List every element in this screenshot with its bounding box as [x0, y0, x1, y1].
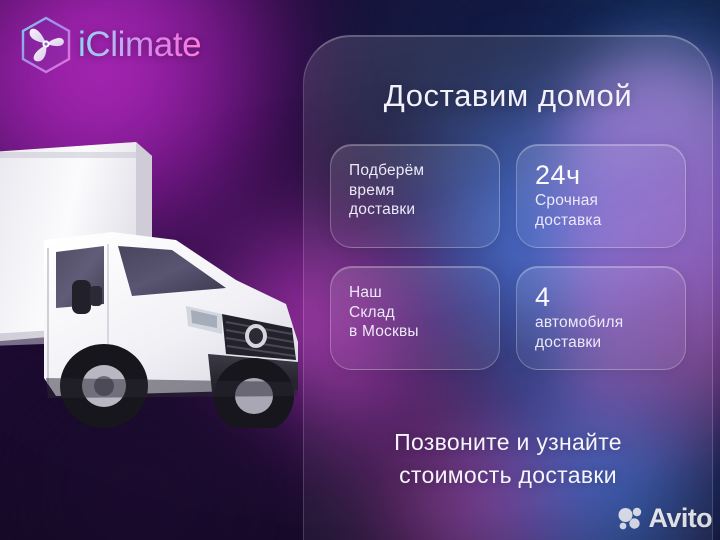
- truck-photo: [0, 128, 316, 428]
- feature-card-moscow-warehouse[interactable]: Наш Склад в Москвы: [330, 266, 500, 370]
- glass-panel: Доставим домой Подберём время доставки 2…: [303, 35, 713, 540]
- feature-line: автомобиля: [535, 313, 671, 333]
- avito-watermark: Avito: [618, 503, 713, 534]
- feature-line: Склад: [349, 303, 485, 323]
- feature-card-grid: Подберём время доставки 24ч Срочная дост…: [330, 144, 686, 370]
- call-to-action[interactable]: Позвоните и узнайте стоимость доставки: [304, 426, 712, 491]
- brand-logo[interactable]: iClimate: [16, 14, 201, 76]
- cta-line-1: Позвоните и узнайте: [304, 426, 712, 459]
- feature-line: Наш: [349, 283, 485, 303]
- hexagon-fan-icon: [16, 14, 76, 76]
- feature-line: доставки: [535, 333, 671, 353]
- feature-card-pickup-time[interactable]: Подберём время доставки: [330, 144, 500, 248]
- feature-line: доставка: [535, 211, 671, 231]
- feature-highlight-value: 4: [535, 283, 671, 311]
- feature-line: доставки: [349, 200, 485, 220]
- avito-dots-icon: [618, 507, 644, 531]
- avito-label: Avito: [649, 503, 713, 534]
- feature-card-four-vehicles[interactable]: 4 автомобиля доставки: [516, 266, 686, 370]
- promo-banner: Доставим домой Подберём время доставки 2…: [0, 0, 720, 540]
- brand-name: iClimate: [78, 25, 201, 65]
- feature-card-express-24h[interactable]: 24ч Срочная доставка: [516, 144, 686, 248]
- feature-highlight-value: 24ч: [535, 161, 671, 189]
- feature-line: Подберём: [349, 161, 485, 181]
- feature-line: в Москвы: [349, 322, 485, 342]
- cta-line-2: стоимость доставки: [304, 459, 712, 492]
- feature-line: время: [349, 181, 485, 201]
- feature-line: Срочная: [535, 191, 671, 211]
- page-title: Доставим домой: [304, 78, 712, 114]
